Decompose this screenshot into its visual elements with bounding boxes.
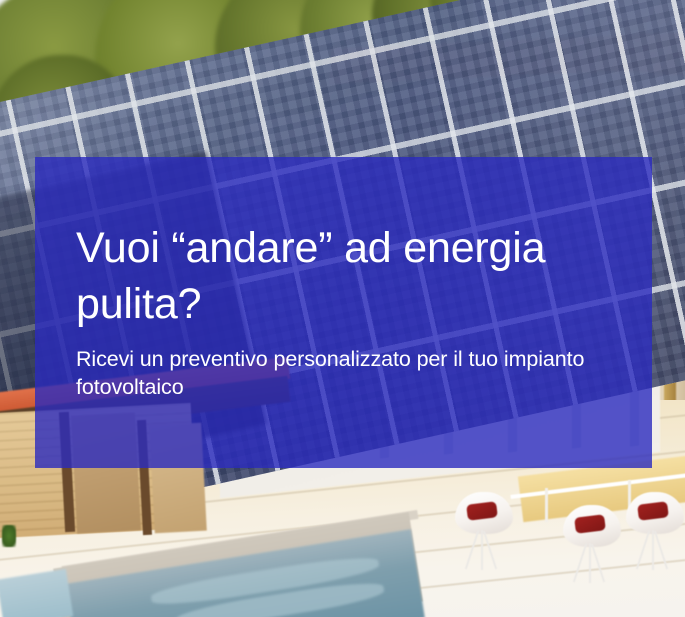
- chair-leg: [481, 530, 483, 570]
- bench-leg: [545, 488, 548, 522]
- hero-headline: Vuoi “andare” ad energia pulita?: [76, 220, 621, 332]
- hero-banner-screenshot: Vuoi “andare” ad energia pulita? Ricevi …: [0, 0, 685, 617]
- chair-leg: [652, 530, 654, 570]
- plant-sprig: [2, 525, 16, 547]
- chair-leg: [589, 543, 591, 583]
- hero-subheadline: Ricevi un preventivo personalizzato per …: [76, 345, 616, 401]
